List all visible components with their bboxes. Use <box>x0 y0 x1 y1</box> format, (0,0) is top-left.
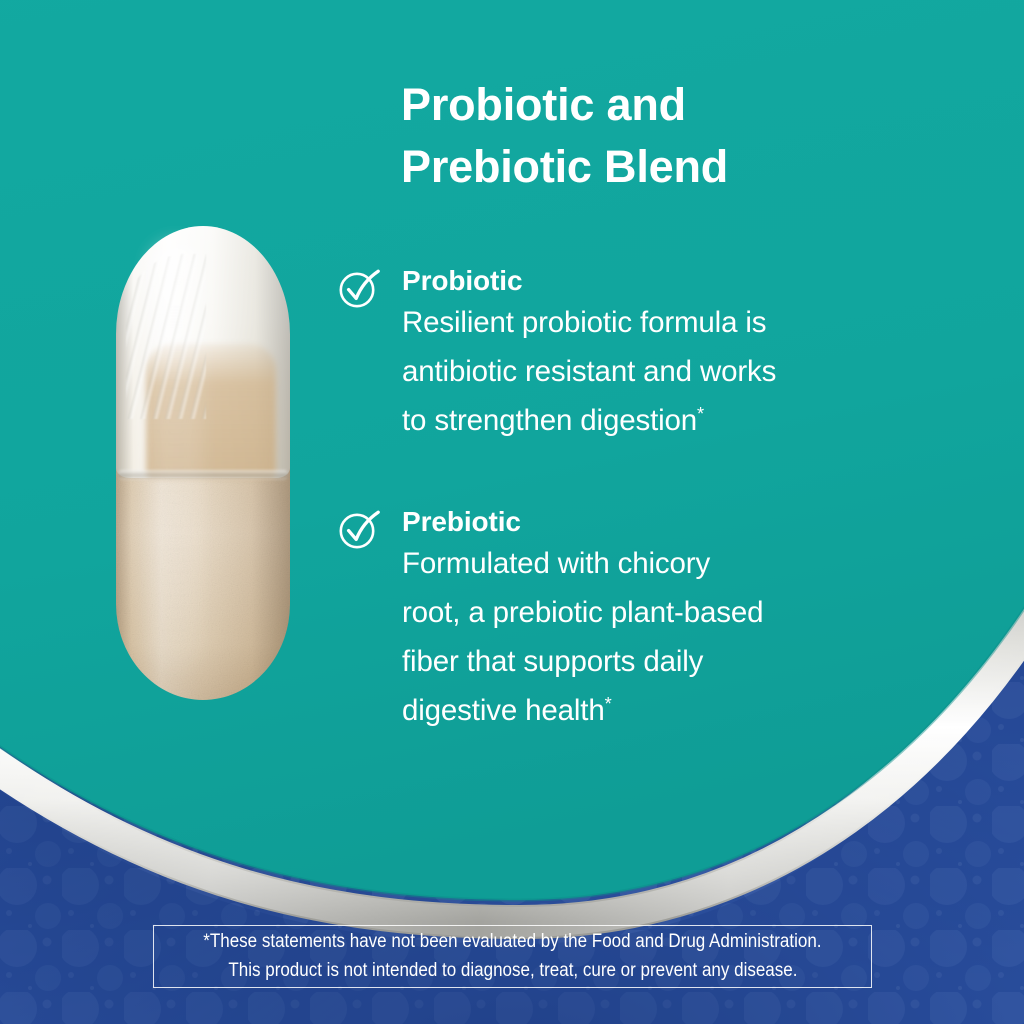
check-circle-icon <box>336 266 384 310</box>
capsule-seam <box>118 470 288 480</box>
capsule-product-image <box>116 226 290 700</box>
feature-body-line: antibiotic resistant and works <box>402 348 896 397</box>
feature-body-line: Resilient probiotic formula is <box>402 299 896 348</box>
feature-body-line: fiber that supports daily <box>402 638 896 687</box>
product-marketing-panel: Probiotic and Prebiotic Blend Probiotic … <box>0 0 1024 1024</box>
feature-body-text: to strengthen digestion <box>402 404 697 437</box>
capsule-highlight <box>150 242 202 672</box>
asterisk-marker: * <box>605 693 612 714</box>
page-title-line-1: Probiotic and <box>401 74 961 136</box>
feature-body-line: root, a prebiotic plant-based <box>402 589 896 638</box>
check-circle-icon <box>336 507 384 551</box>
feature-body: Resilient probiotic formula is antibioti… <box>402 299 896 446</box>
feature-item-probiotic: Probiotic Resilient probiotic formula is… <box>336 264 896 446</box>
disclaimer-line-1: *These statements have not been evaluate… <box>203 928 821 956</box>
feature-body-line: to strengthen digestion* <box>402 397 896 446</box>
feature-item-prebiotic: Prebiotic Formulated with chicory root, … <box>336 505 896 736</box>
feature-title: Probiotic <box>402 264 896 297</box>
capsule-cap <box>116 226 290 478</box>
page-title: Probiotic and Prebiotic Blend <box>401 74 961 197</box>
feature-body-line: digestive health* <box>402 687 896 736</box>
feature-body-text: digestive health <box>402 694 605 727</box>
page-title-line-2: Prebiotic Blend <box>401 136 961 198</box>
feature-body: Formulated with chicory root, a prebioti… <box>402 540 896 736</box>
feature-list: Probiotic Resilient probiotic formula is… <box>336 264 896 736</box>
disclaimer-line-2: This product is not intended to diagnose… <box>228 957 797 985</box>
feature-title: Prebiotic <box>402 505 896 538</box>
feature-body-line: Formulated with chicory <box>402 540 896 589</box>
asterisk-marker: * <box>697 403 704 424</box>
fda-disclaimer-box: *These statements have not been evaluate… <box>153 925 872 988</box>
